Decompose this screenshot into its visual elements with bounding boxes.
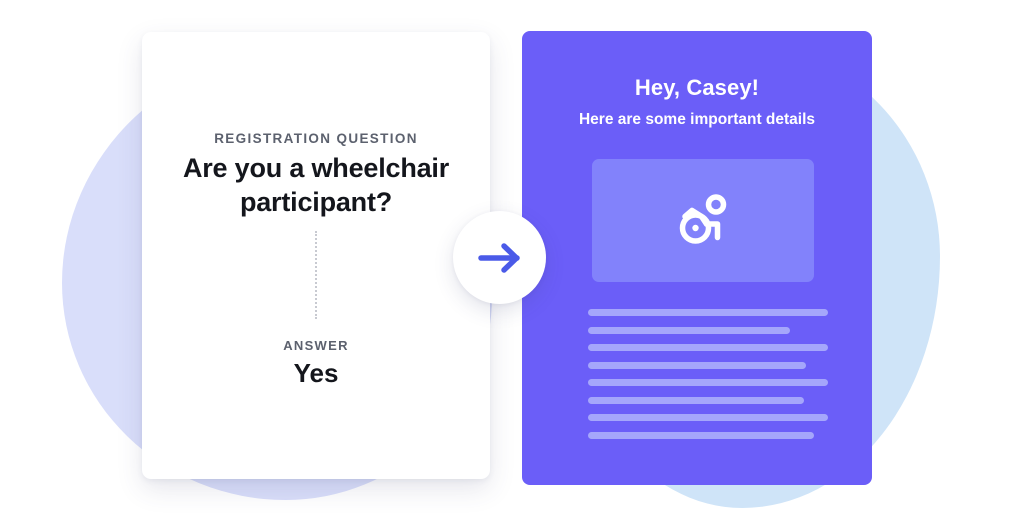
- placeholder-line: [588, 432, 814, 439]
- placeholder-line: [588, 414, 828, 421]
- registration-question-text: Are you a wheelchair participant?: [156, 151, 476, 219]
- answer-eyebrow: ANSWER: [142, 338, 490, 353]
- arrow-right-icon: [477, 241, 523, 275]
- illustration-canvas: REGISTRATION QUESTION Are you a wheelcha…: [0, 0, 1024, 526]
- placeholder-line: [588, 344, 828, 351]
- placeholder-line: [588, 327, 790, 334]
- placeholder-text-lines: [588, 309, 828, 449]
- registration-question-card: REGISTRATION QUESTION Are you a wheelcha…: [142, 32, 490, 479]
- panel-greeting: Hey, Casey!: [522, 75, 872, 101]
- details-panel: Hey, Casey! Here are some important deta…: [522, 31, 872, 485]
- placeholder-line: [588, 309, 828, 316]
- placeholder-line: [588, 362, 806, 369]
- placeholder-line: [588, 379, 828, 386]
- registration-question-eyebrow: REGISTRATION QUESTION: [142, 131, 490, 146]
- dotted-divider-icon: [315, 231, 317, 319]
- placeholder-line: [588, 397, 804, 404]
- answer-value: Yes: [142, 358, 490, 389]
- hero-icon-box: [592, 159, 814, 282]
- panel-subtitle: Here are some important details: [522, 111, 872, 129]
- wheelchair-accessibility-icon: [672, 190, 734, 252]
- arrow-right-button[interactable]: [453, 211, 546, 304]
